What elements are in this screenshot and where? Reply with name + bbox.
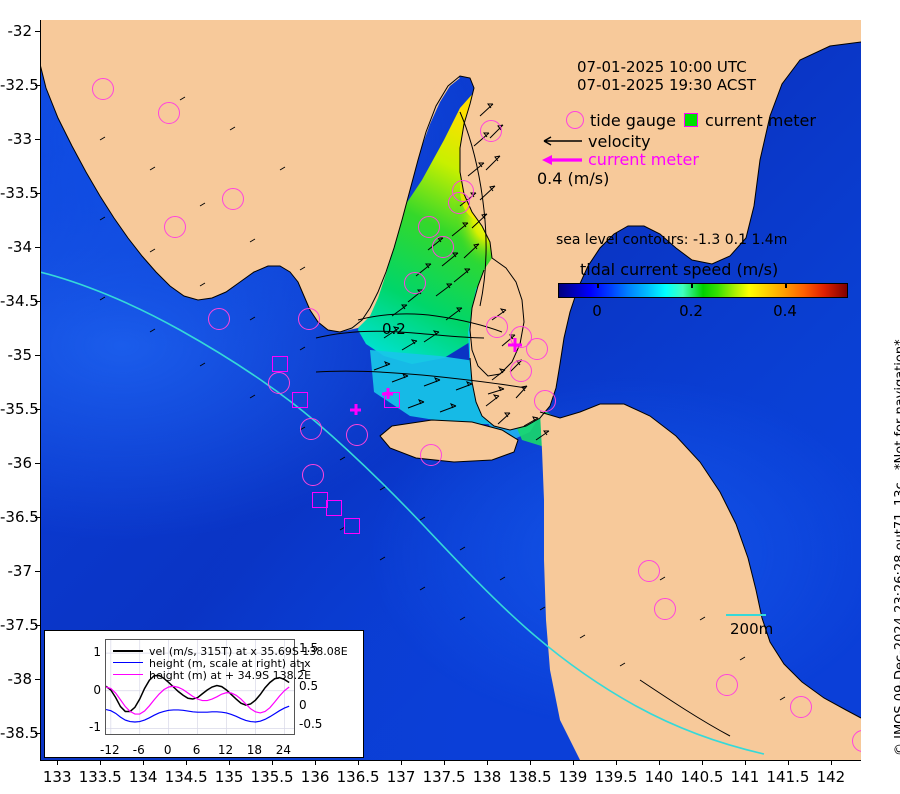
tide-gauge-marker[interactable] [790, 696, 812, 718]
tide-gauge-marker[interactable] [346, 424, 368, 446]
depth-contour-swatch [726, 614, 766, 616]
legend-current-meter-label: current meter [705, 111, 816, 130]
y-tick [35, 139, 40, 140]
tide-gauge-marker[interactable] [486, 316, 508, 338]
x-tick [831, 760, 832, 765]
y-tick [35, 355, 40, 356]
inset-ytick-label-left: 1 [81, 645, 101, 659]
legend-tide-gauge-label: tide gauge [590, 111, 676, 130]
x-tick-label: 136.5 [337, 768, 380, 786]
inset-ytick-label-right: 0 [299, 698, 307, 712]
x-tick [659, 760, 660, 765]
inset-xtick-label: 6 [193, 743, 201, 757]
current-meter-marker[interactable] [326, 500, 342, 516]
tide-gauge-marker[interactable] [510, 360, 532, 382]
tide-gauge-marker[interactable] [222, 188, 244, 210]
x-tick [788, 760, 789, 765]
legend-velocity-label: velocity [588, 132, 651, 151]
inset-xtick-label: 12 [218, 743, 233, 757]
x-tick [57, 760, 58, 765]
y-tick [35, 463, 40, 464]
y-tick-label: -32 [0, 22, 32, 40]
y-tick-label: -36 [0, 454, 32, 472]
tide-gauge-marker[interactable] [158, 102, 180, 124]
tide-gauge-marker[interactable] [638, 560, 660, 582]
inset-timeseries-panel[interactable]: -12-606121824-101-0.500.511.5 vel (m/s, … [44, 630, 364, 758]
y-tick-label: -34.5 [0, 292, 32, 310]
tide-gauge-marker[interactable] [164, 216, 186, 238]
y-tick-label: -37.5 [0, 616, 32, 634]
x-tick-label: 136 [301, 768, 330, 786]
colorbar-tick-label: 0 [592, 302, 602, 320]
model-point-cross[interactable] [350, 404, 361, 415]
x-tick [530, 760, 531, 765]
x-tick-label: 140.5 [680, 768, 723, 786]
tide-gauge-marker[interactable] [268, 372, 290, 394]
y-tick [35, 247, 40, 248]
tide-gauge-marker[interactable] [300, 418, 322, 440]
x-tick-label: 134.5 [165, 768, 208, 786]
sea-level-contour-note: sea level contours: -1.3 0.1 1.4m [556, 232, 787, 248]
y-tick-label: -36.5 [0, 508, 32, 526]
x-tick [487, 760, 488, 765]
x-axis-line [40, 760, 861, 761]
y-tick [35, 571, 40, 572]
tide-gauge-marker[interactable] [432, 236, 454, 258]
x-tick [358, 760, 359, 765]
inset-ytick-label-left: 0 [81, 683, 101, 697]
y-tick-label: -38 [0, 670, 32, 688]
tide-gauge-marker[interactable] [480, 120, 502, 142]
tide-gauge-marker[interactable] [716, 674, 738, 696]
x-tick-label: 137.5 [423, 768, 466, 786]
fleurieu-southeast-mainland [540, 404, 861, 760]
y-tick-label: -35.5 [0, 400, 32, 418]
y-tick-label: -33.5 [0, 184, 32, 202]
x-tick-label: 139.5 [595, 768, 638, 786]
y-tick [35, 679, 40, 680]
x-tick [315, 760, 316, 765]
inset-xtick-label: -12 [100, 743, 120, 757]
colorbar-tick [785, 283, 787, 288]
tide-gauge-marker[interactable] [654, 598, 676, 620]
y-tick-label: -32.5 [0, 76, 32, 94]
x-tick-label: 135 [215, 768, 244, 786]
inset-xtick-label: 24 [276, 743, 291, 757]
contour-label-0p2: 0.2 [382, 320, 406, 338]
timestamp-utc: 07-01-2025 10:00 UTC [577, 58, 747, 76]
inset-xtick-label: -6 [133, 743, 145, 757]
figure-root: 0.2 200m 07-01-2025 10:00 UTC 07-01-2025… [0, 0, 900, 794]
x-tick-label: 133 [43, 768, 72, 786]
tide-gauge-marker[interactable] [208, 308, 230, 330]
inset-ytick-label-right: -0.5 [299, 717, 322, 731]
current-meter-marker[interactable] [344, 518, 360, 534]
x-tick-label: 140 [645, 768, 674, 786]
depth-contour-label: 200m [730, 620, 773, 638]
tide-gauge-marker[interactable] [404, 272, 426, 294]
x-tick [616, 760, 617, 765]
x-tick [229, 760, 230, 765]
current-meter-marker[interactable] [292, 392, 308, 408]
inset-xtick-label: 18 [247, 743, 262, 757]
current-meter-marker[interactable] [272, 356, 288, 372]
copyright-notice: © IMOS 09-Dec-2024 23:26:28 out71_13c . … [893, 339, 900, 756]
inset-legend-swatch [113, 662, 143, 663]
x-tick [100, 760, 101, 765]
colorbar-tick-label: 0.4 [773, 302, 797, 320]
x-tick-label: 141.5 [766, 768, 809, 786]
x-tick [702, 760, 703, 765]
x-tick [401, 760, 402, 765]
y-tick-label: -34 [0, 238, 32, 256]
x-tick [444, 760, 445, 765]
velocity-arrow-icon [538, 133, 584, 149]
colorbar-title: tidal current speed (m/s) [580, 260, 778, 279]
inset-legend-label: height (m) at + 34.9S 138.2E [149, 669, 311, 682]
x-tick [143, 760, 144, 765]
x-tick-label: 138 [473, 768, 502, 786]
x-tick-label: 142 [817, 768, 846, 786]
colorbar-gradient[interactable] [558, 283, 848, 298]
tide-gauge-marker[interactable] [448, 192, 470, 214]
colorbar-tick-label: 0.2 [679, 302, 703, 320]
tide-gauge-marker[interactable] [92, 78, 114, 100]
x-tick-label: 138.5 [509, 768, 552, 786]
tide-gauge-marker[interactable] [534, 390, 556, 412]
inset-legend-swatch [113, 674, 143, 675]
x-tick-label: 141 [731, 768, 760, 786]
legend-arrow-scale: 0.4 (m/s) [537, 169, 609, 188]
x-tick-label: 133.5 [79, 768, 122, 786]
x-tick-label: 137 [387, 768, 416, 786]
inset-legend-swatch [113, 650, 143, 652]
x-tick-label: 135.5 [251, 768, 294, 786]
legend-current-meter-icon [684, 113, 698, 127]
x-tick-label: 139 [559, 768, 588, 786]
tide-gauge-marker[interactable] [298, 308, 320, 330]
timestamp-acst: 07-01-2025 19:30 ACST [577, 76, 756, 94]
y-axis-line [40, 20, 41, 760]
legend-current-meter-arrow-label: current meter [588, 150, 699, 169]
x-tick [745, 760, 746, 765]
x-tick-label: 134 [129, 768, 158, 786]
x-tick [272, 760, 273, 765]
colorbar-tick [597, 283, 599, 288]
x-tick [186, 760, 187, 765]
tide-gauge-marker[interactable] [418, 216, 440, 238]
y-tick-label: -35 [0, 346, 32, 364]
tide-gauge-marker[interactable] [302, 464, 324, 486]
model-point-cross[interactable] [508, 338, 522, 352]
inset-xtick-label: 0 [164, 743, 172, 757]
y-tick [35, 31, 40, 32]
model-point-cross[interactable] [382, 388, 393, 399]
tide-gauge-marker[interactable] [420, 444, 442, 466]
colorbar-tick [691, 283, 693, 288]
inset-ytick-label-left: -1 [81, 720, 101, 734]
x-tick [573, 760, 574, 765]
legend-tide-gauge-icon [566, 111, 584, 129]
y-tick-label: -38.5 [0, 724, 32, 742]
y-tick-label: -33 [0, 130, 32, 148]
tide-gauge-marker[interactable] [526, 338, 548, 360]
y-tick-label: -37 [0, 562, 32, 580]
current-meter-arrow-icon [538, 152, 584, 168]
